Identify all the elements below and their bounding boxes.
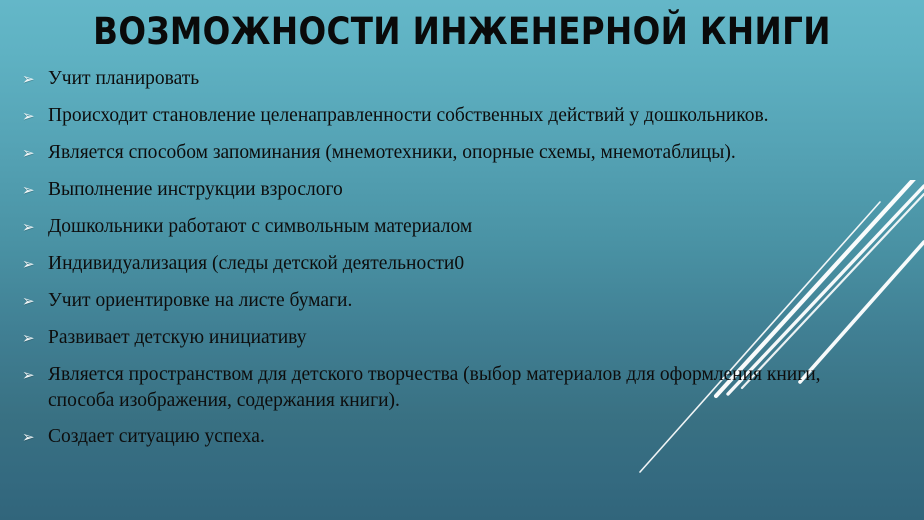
list-item-text: Создает ситуацию успеха.: [48, 424, 890, 450]
list-item-text: Выполнение инструкции взрослого: [48, 177, 890, 203]
list-item: ➢ Дошкольники работают с символьным мате…: [22, 214, 890, 240]
arrow-bullet-icon: ➢: [22, 328, 48, 350]
list-item-text: Дошкольники работают с символьным матери…: [48, 214, 890, 240]
list-item: ➢ Учит планировать: [22, 66, 890, 92]
list-item-text: Является способом запоминания (мнемотехн…: [48, 140, 890, 166]
arrow-bullet-icon: ➢: [22, 365, 48, 387]
arrow-bullet-icon: ➢: [22, 69, 48, 91]
bullet-list: ➢ Учит планировать ➢ Происходит становле…: [22, 66, 890, 461]
arrow-bullet-icon: ➢: [22, 254, 48, 276]
list-item: ➢ Происходит становление целенаправленно…: [22, 103, 890, 129]
list-item-text: Является пространством для детского твор…: [48, 362, 870, 414]
list-item-text: Происходит становление целенаправленност…: [48, 103, 890, 129]
slide-canvas: ВОЗМОЖНОСТИ ИНЖЕНЕРНОЙ КНИГИ ➢ Учит план…: [0, 0, 924, 520]
list-item: ➢ Является способом запоминания (мнемоте…: [22, 140, 890, 166]
arrow-bullet-icon: ➢: [22, 143, 48, 165]
list-item-text: Индивидуализация (следы детской деятельн…: [48, 251, 890, 277]
arrow-bullet-icon: ➢: [22, 427, 48, 449]
list-item: ➢ Развивает детскую инициативу: [22, 325, 890, 351]
arrow-bullet-icon: ➢: [22, 106, 48, 128]
page-title: ВОЗМОЖНОСТИ ИНЖЕНЕРНОЙ КНИГИ: [55, 10, 868, 54]
list-item-text: Развивает детскую инициативу: [48, 325, 890, 351]
list-item: ➢ Является пространством для детского тв…: [22, 362, 890, 414]
list-item: ➢ Создает ситуацию успеха.: [22, 424, 890, 450]
list-item: ➢ Индивидуализация (следы детской деятел…: [22, 251, 890, 277]
list-item: ➢ Учит ориентировке на листе бумаги.: [22, 288, 890, 314]
list-item-text: Учит планировать: [48, 66, 890, 92]
arrow-bullet-icon: ➢: [22, 180, 48, 202]
arrow-bullet-icon: ➢: [22, 291, 48, 313]
list-item: ➢ Выполнение инструкции взрослого: [22, 177, 890, 203]
list-item-text: Учит ориентировке на листе бумаги.: [48, 288, 890, 314]
arrow-bullet-icon: ➢: [22, 217, 48, 239]
